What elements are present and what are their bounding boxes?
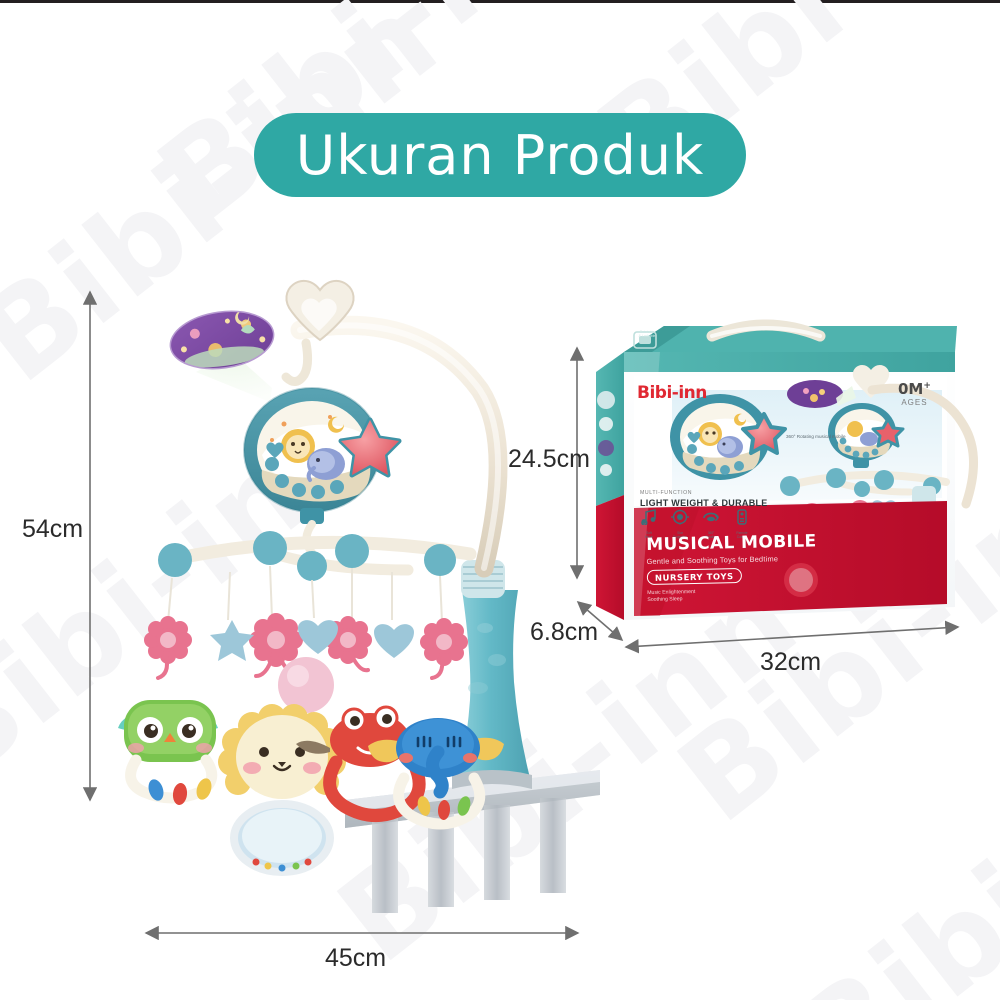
arm-ball [424,544,456,576]
rotation-icon [701,509,721,525]
age-badge-label: AGES [898,398,931,407]
dimension-label-product-height: 54cm [22,515,83,544]
box-lid-note-line2: & Lockable [634,334,660,338]
box-product-subtitle: Gentle and Soothing Toys for Bedtime [646,553,817,566]
box-tagline-small: MULTI-FUNCTION [640,490,768,496]
arm-ball [297,551,327,581]
elephant-art [307,448,345,480]
ball-pink [278,657,334,713]
age-badge: 0M+ AGES [898,380,931,407]
box-rotate-note: 360° Rotating musical mobile [786,434,856,441]
remote-icon [732,509,752,525]
dimension-label-product-width: 45cm [325,944,386,973]
box-brand-logo: Bibi-inn [637,383,707,403]
box-lid-note: Rotatable & Lockable [634,330,660,339]
box-product-title: MUSICAL MOBILE [646,531,817,555]
mobile-cross-arms [158,531,470,622]
heart-blue-2 [374,624,414,658]
arm-ball [253,531,287,565]
box-tagline-large: LIGHT WEIGHT & DURABLE [640,498,768,508]
crib-rail [345,770,600,913]
artwork-layer [0,0,1000,1000]
music-note-icon [639,509,659,525]
owl-rattle [118,700,218,806]
product-size-infographic: Bibi-inn Bibi-inn Bibi-inn Bibi-inn Bibi… [0,0,1000,1000]
box-tagline: MULTI-FUNCTION LIGHT WEIGHT & DURABLE [640,490,768,508]
box-width-line [626,627,958,647]
age-badge-plus: + [923,381,931,391]
box-category-pill: NURSERY TOYS [647,568,742,585]
arm-ball [158,543,192,577]
dimension-label-box-height: 24.5cm [508,445,590,474]
dimension-label-box-depth: 6.8cm [530,618,598,647]
projector-icon [670,509,690,525]
box-red-band-text: MUSICAL MOBILE Gentle and Soothing Toys … [646,531,818,605]
age-badge-value: 0M [898,380,923,398]
dimension-label-box-width: 32cm [760,648,821,677]
flower-4 [420,618,468,678]
arm-ball [335,534,369,568]
star-projection [167,305,278,402]
flower-1 [144,616,192,678]
hanging-shapes [144,613,468,713]
star-blue [210,620,254,661]
